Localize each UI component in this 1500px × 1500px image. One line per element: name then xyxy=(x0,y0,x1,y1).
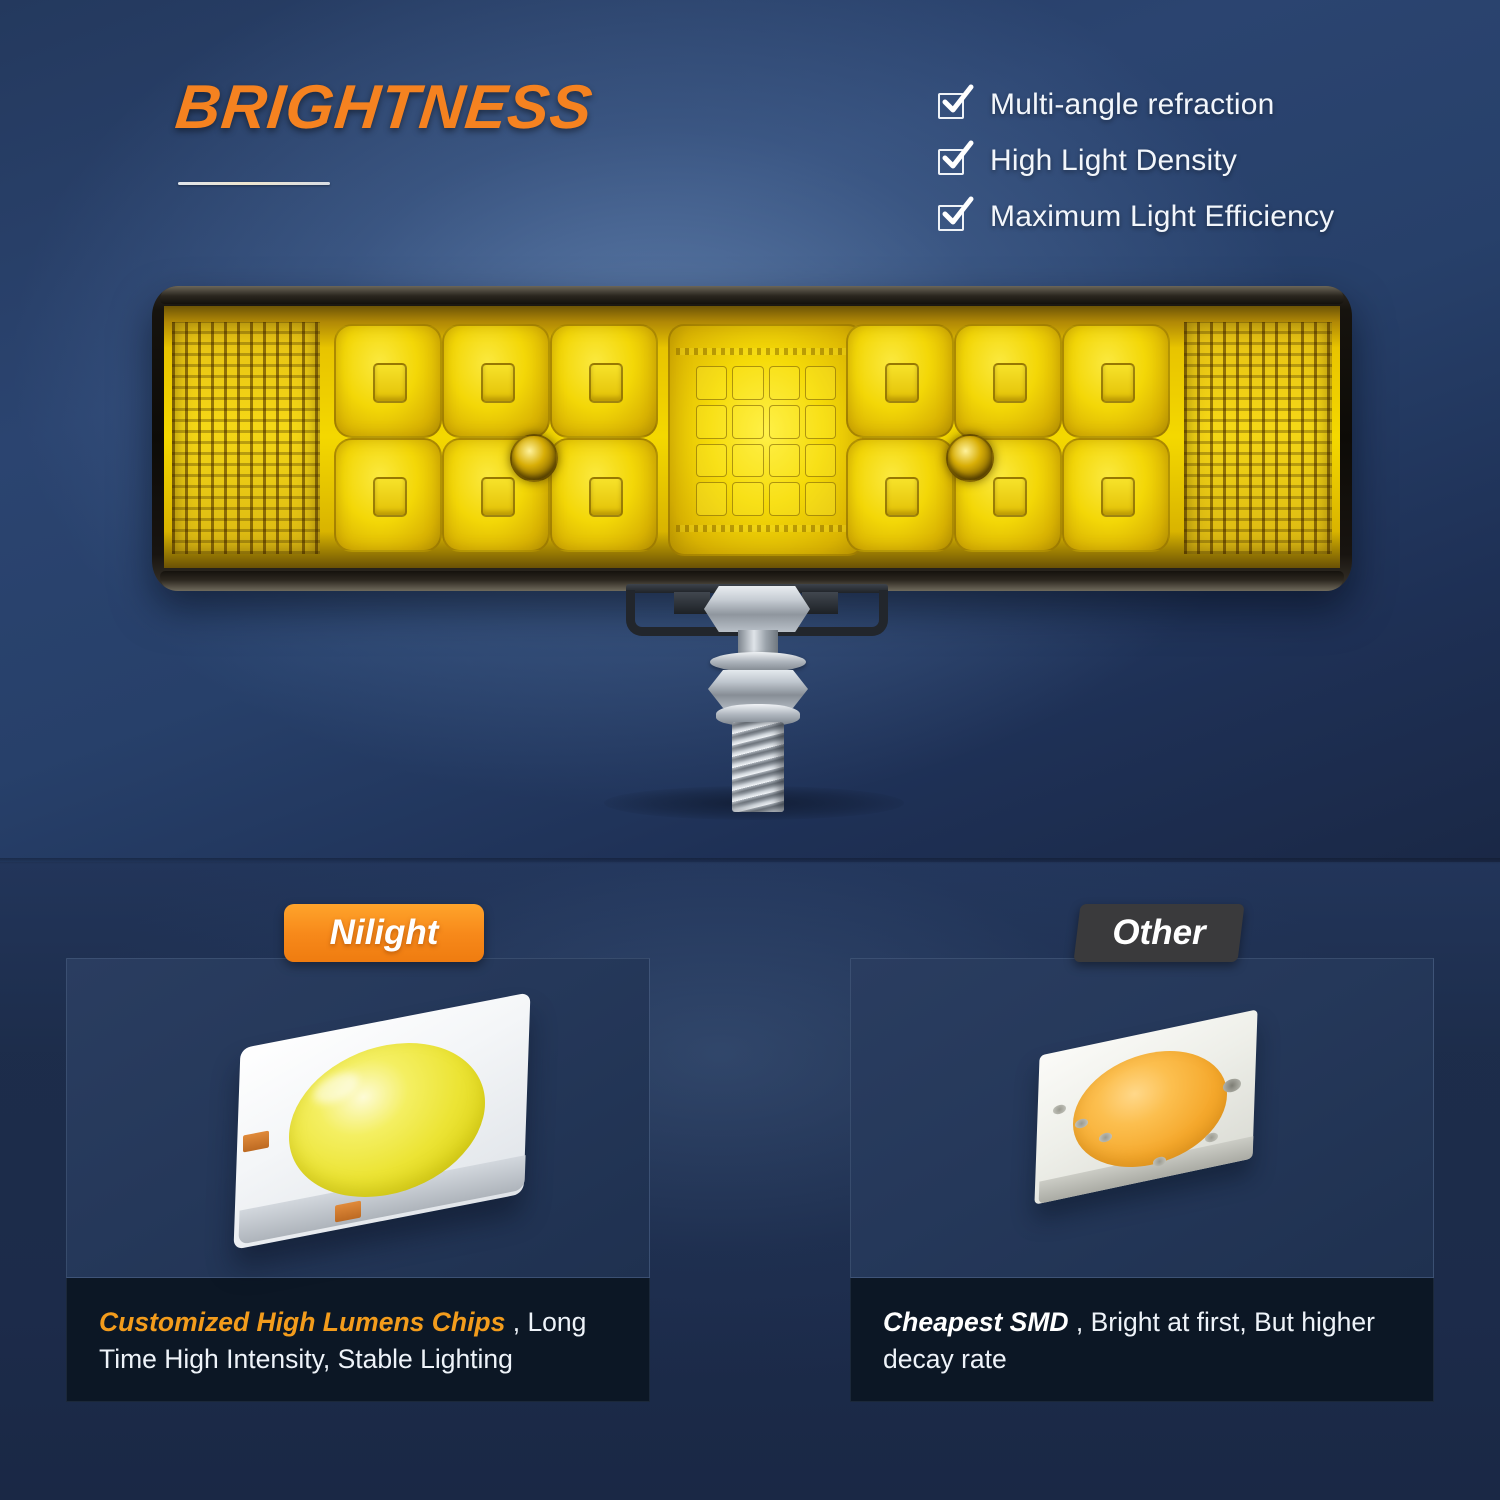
feature-item: High Light Density xyxy=(938,144,1418,178)
nilight-panel: Customized High Lumens Chips , Long Time… xyxy=(66,958,650,1402)
hex-nut-icon xyxy=(704,586,810,632)
center-flood-lens xyxy=(668,324,864,556)
nilight-badge-label: Nilight xyxy=(284,904,484,962)
right-ribbed-lens xyxy=(1184,322,1332,554)
feature-label: Maximum Light Efficiency xyxy=(990,200,1334,234)
left-led-cluster xyxy=(334,324,658,552)
other-led-chip xyxy=(1027,1019,1277,1219)
product-infographic: BRIGHTNESS Multi-angle refraction High L… xyxy=(0,0,1500,1500)
nilight-caption: Customized High Lumens Chips , Long Time… xyxy=(66,1278,650,1402)
lock-nut-icon xyxy=(708,670,808,708)
section-divider xyxy=(0,858,1500,864)
threaded-bolt-icon xyxy=(732,722,784,812)
feature-item: Maximum Light Efficiency xyxy=(938,200,1418,234)
lens-screw-boss xyxy=(946,434,994,482)
left-ribbed-lens xyxy=(172,322,320,554)
other-caption-highlight: Cheapest SMD xyxy=(883,1307,1069,1337)
other-badge: Other xyxy=(1073,904,1244,962)
other-chip-photo xyxy=(850,958,1434,1278)
feature-list: Multi-angle refraction High Light Densit… xyxy=(938,88,1418,256)
comparison-section: Customized High Lumens Chips , Long Time… xyxy=(0,900,1500,1460)
title-underline xyxy=(178,182,330,185)
feature-label: Multi-angle refraction xyxy=(990,88,1275,122)
right-led-cluster xyxy=(846,324,1170,552)
nilight-badge: Nilight xyxy=(284,904,484,962)
bracket-bolt-mount xyxy=(612,584,902,814)
nilight-caption-highlight: Customized High Lumens Chips xyxy=(99,1307,505,1337)
other-caption: Cheapest SMD , Bright at first, But high… xyxy=(850,1278,1434,1402)
checkbox-checked-icon xyxy=(938,90,968,120)
feature-item: Multi-angle refraction xyxy=(938,88,1418,122)
nilight-chip-photo xyxy=(66,958,650,1278)
feature-label: High Light Density xyxy=(990,144,1237,178)
page-title: BRIGHTNESS xyxy=(172,72,596,143)
other-badge-label: Other xyxy=(1077,904,1241,962)
checkbox-checked-icon xyxy=(938,202,968,232)
lens-screw-boss xyxy=(510,434,558,482)
checkbox-checked-icon xyxy=(938,146,968,176)
led-light-bar-image xyxy=(152,286,1352,591)
washer-icon xyxy=(710,652,806,672)
other-panel: Cheapest SMD , Bright at first, But high… xyxy=(850,958,1434,1402)
nilight-led-chip xyxy=(217,987,547,1257)
